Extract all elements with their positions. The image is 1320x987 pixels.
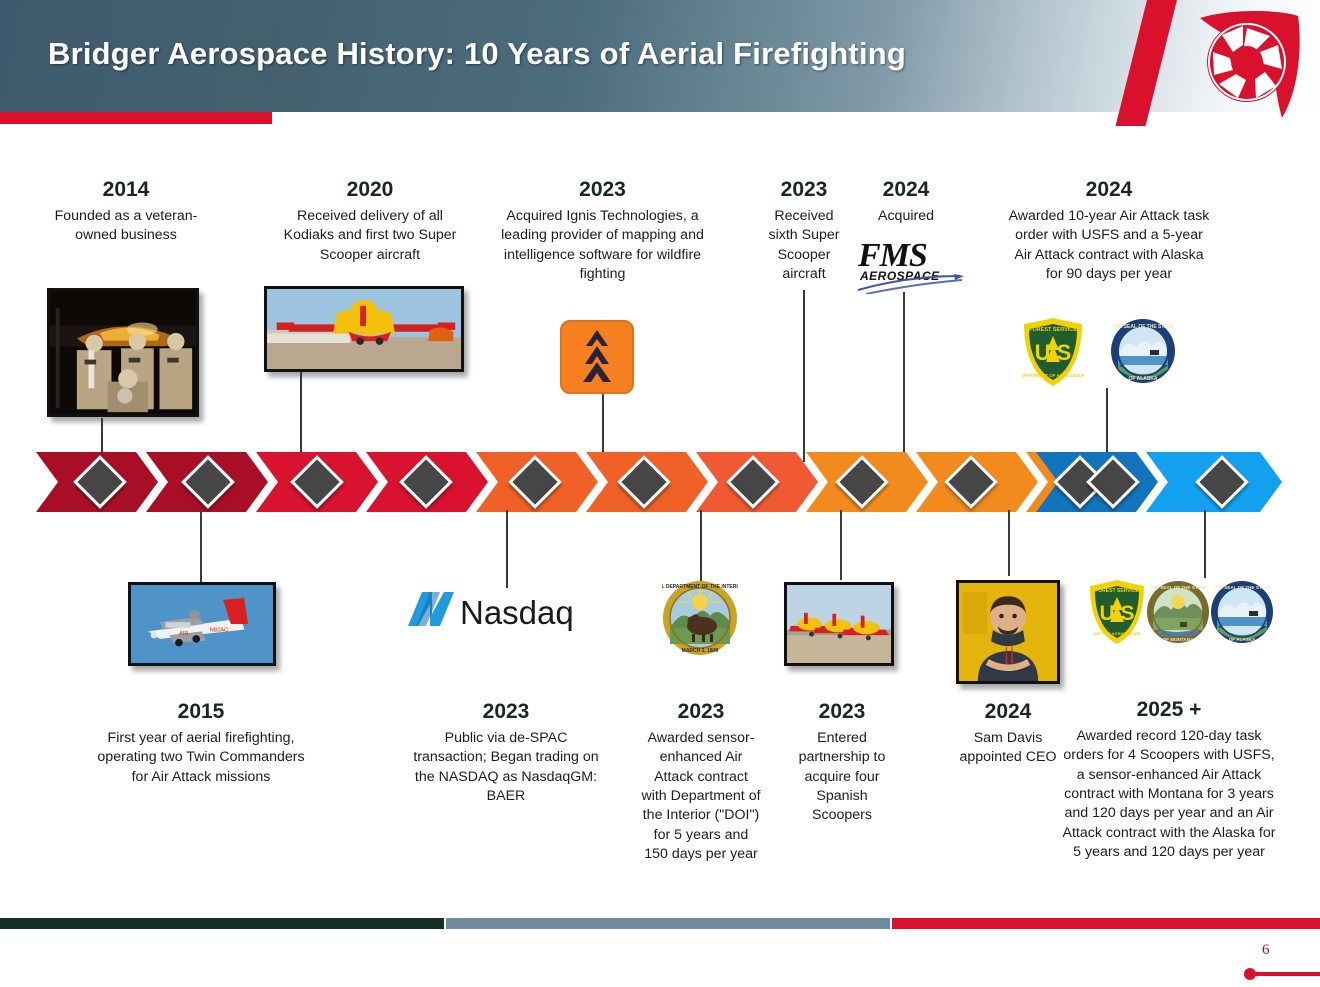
svg-text:THE SEAL OF THE STATE: THE SEAL OF THE STATE <box>1112 324 1174 330</box>
event-2025-plus: 2025 + Awarded record 120-day task order… <box>1058 698 1280 862</box>
page-number-rule <box>1254 972 1320 976</box>
twin-commander-in-flight-photo: N82AC AIR <box>128 582 276 666</box>
usfs-seal-icon-2: U S FOREST SERVICE DEPT OF AGRICULTURE <box>1088 578 1146 646</box>
event-year: 2023 <box>408 700 604 724</box>
event-year: 2023 <box>640 700 762 724</box>
alaska-state-seal-icon-2: THE SEAL OF THE STATE OF ALASKA <box>1210 580 1274 644</box>
event-2024-usfs-alaska: 2024 Awarded 10-year Air Attack task ord… <box>1006 178 1212 284</box>
connector-stem <box>1106 388 1108 462</box>
bridger-aperture-logo <box>1186 2 1310 120</box>
event-description: Awarded sensor-enhanced Air Attack contr… <box>640 729 762 864</box>
event-year: 2024 <box>958 700 1058 724</box>
svg-text:FOREST SERVICE: FOREST SERVICE <box>1095 588 1139 594</box>
event-description: Sam Davis appointed CEO <box>958 729 1058 768</box>
spanish-scoopers-photo <box>784 582 894 666</box>
event-description: Entered partnership to acquire four Span… <box>790 729 894 826</box>
footer-bar-slate <box>446 918 890 929</box>
slide-canvas: Bridger Aerospace History: 10 Years of A… <box>0 0 1320 987</box>
svg-text:THE SEAL OF THE STATE: THE SEAL OF THE STATE <box>1214 585 1270 590</box>
event-2024-ceo: 2024 Sam Davis appointed CEO <box>958 700 1058 768</box>
event-2023-despac: 2023 Public via de-SPAC transaction; Beg… <box>408 700 604 806</box>
event-year: 2023 <box>790 700 894 724</box>
event-year: 2023 <box>495 178 710 202</box>
connector-stem <box>840 510 842 580</box>
event-2015: 2015 First year of aerial firefighting, … <box>92 700 310 787</box>
event-description: Awarded 10-year Air Attack task order wi… <box>1006 207 1212 284</box>
svg-text:OF MONTANA: OF MONTANA <box>1163 637 1194 642</box>
event-2023-ignis: 2023 Acquired Ignis Technologies, a lead… <box>495 178 710 284</box>
event-2023-doi: 2023 Awarded sensor-enhanced Air Attack … <box>640 700 762 864</box>
event-description: Awarded record 120-day task orders for 4… <box>1058 727 1280 862</box>
event-description: Received sixth Super Scooper aircraft <box>762 207 846 284</box>
svg-text:U.S. DEPARTMENT OF THE INTERIO: U.S. DEPARTMENT OF THE INTERIOR <box>662 584 738 590</box>
svg-text:DEPARTMENT OF AGRICULTURE: DEPARTMENT OF AGRICULTURE <box>1022 373 1084 378</box>
event-description: First year of aerial firefighting, opera… <box>92 729 310 787</box>
connector-stem <box>200 510 202 582</box>
connector-stem <box>1204 510 1206 578</box>
connector-stem <box>700 510 702 582</box>
super-scooper-on-ramp-photo <box>264 286 464 372</box>
event-year: 2024 <box>1006 178 1212 202</box>
founders-night-photo <box>47 288 199 417</box>
usfs-seal-icon: U S FOREST SERVICE DEPARTMENT OF AGRICUL… <box>1022 316 1084 388</box>
connector-stem <box>506 510 508 588</box>
svg-text:OF ALASKA: OF ALASKA <box>1229 637 1256 642</box>
event-year: 2015 <box>92 700 310 724</box>
svg-text:AIR: AIR <box>179 631 189 637</box>
event-2020: 2020 Received delivery of all Kodiaks an… <box>275 178 465 265</box>
event-year: 2024 <box>858 178 954 202</box>
nasdaq-logo: Nasdaq <box>404 588 576 636</box>
event-year: 2025 + <box>1058 698 1280 722</box>
event-description: Acquired Ignis Technologies, a leading p… <box>495 207 710 284</box>
svg-text:Nasdaq: Nasdaq <box>460 594 574 631</box>
footer-bar-red <box>892 918 1320 929</box>
event-2014: 2014 Founded as a veteran-owned business <box>50 178 202 246</box>
page-title: Bridger Aerospace History: 10 Years of A… <box>48 36 906 72</box>
event-year: 2023 <box>762 178 846 202</box>
footer-bar-green <box>0 918 444 929</box>
event-description: Founded as a veteran-owned business <box>50 207 202 246</box>
connector-stem <box>300 372 302 462</box>
event-description: Public via de-SPAC transaction; Began tr… <box>408 729 604 806</box>
event-2023-spanish-scoopers: 2023 Entered partnership to acquire four… <box>790 700 894 826</box>
alaska-state-seal-icon: THE SEAL OF THE STATE OF ALASKA <box>1110 318 1176 384</box>
sam-davis-portrait-photo <box>956 580 1060 684</box>
svg-text:OF ALASKA: OF ALASKA <box>1129 376 1158 382</box>
connector-stem <box>1008 510 1010 576</box>
svg-text:THE SEAL OF THE STATE: THE SEAL OF THE STATE <box>1150 585 1206 590</box>
svg-text:MARCH 3, 1849: MARCH 3, 1849 <box>682 648 719 654</box>
svg-text:DEPT OF AGRICULTURE: DEPT OF AGRICULTURE <box>1093 631 1140 636</box>
page-number: 6 <box>1262 942 1270 959</box>
event-2023-sixth-scooper: 2023 Received sixth Super Scooper aircra… <box>762 178 846 284</box>
svg-text:N82AC: N82AC <box>210 627 229 633</box>
event-year: 2020 <box>275 178 465 202</box>
event-description: Acquired <box>858 207 954 226</box>
connector-stem <box>903 292 905 462</box>
montana-state-seal-icon: THE SEAL OF THE STATE OF MONTANA <box>1146 580 1210 644</box>
timeline-bar <box>36 452 1282 512</box>
doi-seal-icon: U.S. DEPARTMENT OF THE INTERIOR MARCH 3,… <box>662 580 738 656</box>
event-year: 2014 <box>50 178 202 202</box>
event-2024-fms: 2024 Acquired <box>858 178 954 226</box>
event-description: Received delivery of all Kodiaks and fir… <box>275 207 465 265</box>
ignis-technologies-logo <box>560 320 634 394</box>
header-red-underline <box>0 112 272 124</box>
svg-text:FOREST SERVICE: FOREST SERVICE <box>1029 327 1077 333</box>
connector-stem <box>803 290 805 462</box>
fms-aerospace-logo: FMS AEROSPACE <box>856 232 966 294</box>
